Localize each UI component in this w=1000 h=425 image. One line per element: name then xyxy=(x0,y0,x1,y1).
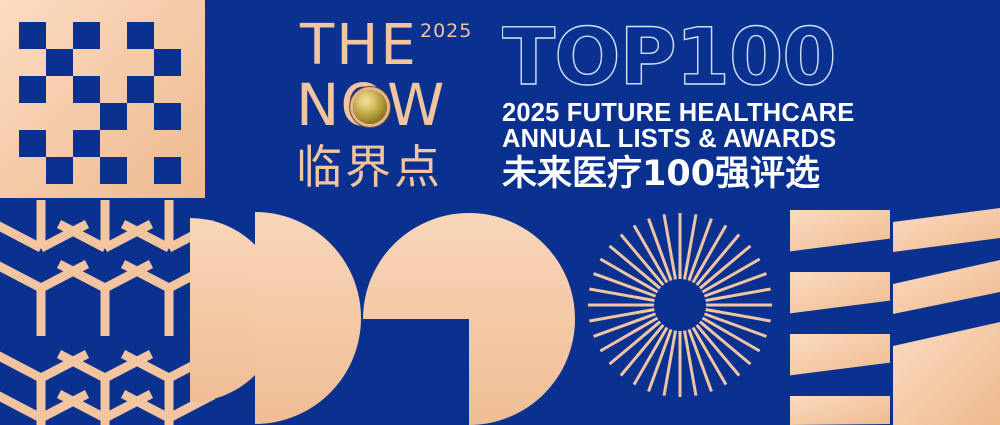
logo-year-text: 2025 xyxy=(420,22,472,41)
headline-english-line-1: 2025 FUTURE HEALTHCARE xyxy=(502,100,842,126)
logo-the-row: THE 2025 xyxy=(296,18,492,74)
top100-text: TOP100 xyxy=(502,18,836,98)
diagonal-stripes-pattern xyxy=(780,200,1000,425)
logo-chinese-text: 临界点 xyxy=(296,142,492,192)
checkerboard-pattern xyxy=(0,0,205,198)
banner-root: THE 2025 NOW 临界点 TOP100 2025 FUTURE HEAL… xyxy=(0,0,1000,425)
headline-chinese-line: 未来医疗100强评选 xyxy=(502,154,842,194)
logo-block: THE 2025 NOW 临界点 xyxy=(296,18,492,196)
logo-now-row: NOW xyxy=(296,76,492,138)
headline-english-line-2: ANNUAL LISTS & AWARDS xyxy=(502,126,842,152)
top100-outline-title: TOP100 xyxy=(502,18,837,98)
notched-circle-shape xyxy=(363,213,575,425)
decoration-layer xyxy=(0,0,1000,425)
logo-the-text: THE xyxy=(300,18,418,74)
gold-sphere-icon xyxy=(353,90,387,124)
headline-block: TOP100 2025 FUTURE HEALTHCARE ANNUAL LIS… xyxy=(502,18,842,194)
